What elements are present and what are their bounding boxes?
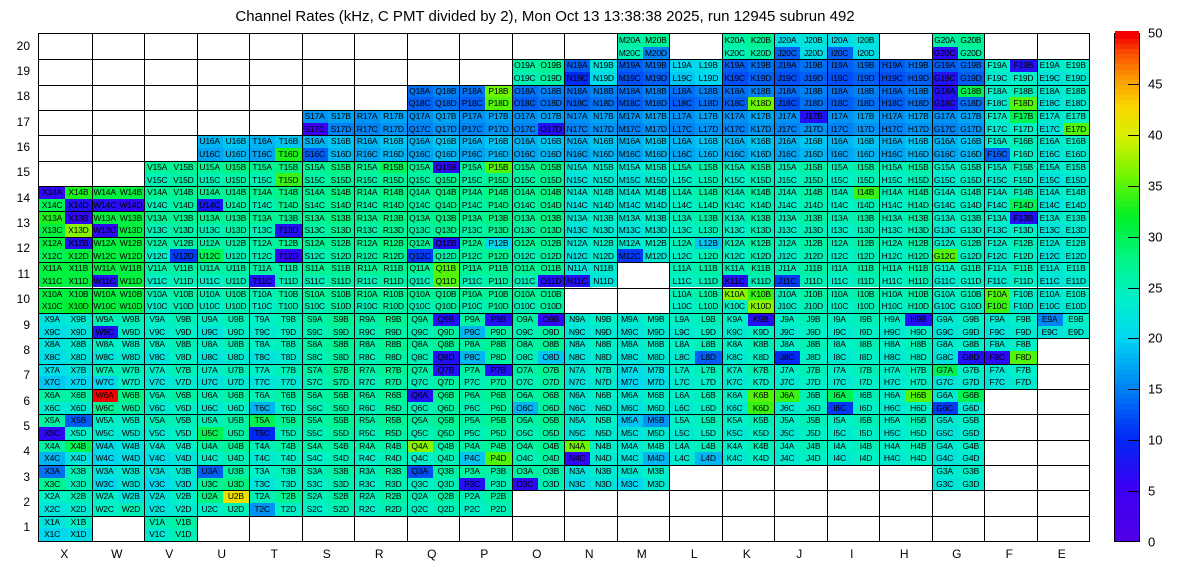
heatmap-cell: J15B xyxy=(800,161,826,174)
heatmap-cell: I4B xyxy=(853,440,879,453)
heatmap-cell: H5B xyxy=(905,414,931,427)
heatmap-cell: X11A xyxy=(39,262,65,275)
heatmap-cell: P3A xyxy=(459,465,485,478)
heatmap-cell: G14D xyxy=(958,199,984,212)
heatmap-cell: K9A xyxy=(722,313,748,326)
heatmap-cell: E18C xyxy=(1037,97,1063,110)
heatmap-cell: K20D xyxy=(748,47,774,60)
heatmap-cell: G6D xyxy=(958,402,984,415)
heatmap-cell: W9B xyxy=(118,313,144,326)
heatmap-cell: H8A xyxy=(879,338,905,351)
heatmap-cell: Q2C xyxy=(407,503,433,516)
heatmap-cell: V14D xyxy=(170,199,196,212)
heatmap-cell: I12B xyxy=(853,237,879,250)
heatmap-cell: V10D xyxy=(170,300,196,313)
heatmap-cell: R17B xyxy=(380,110,406,123)
grid-line-horizontal xyxy=(39,288,1089,289)
heatmap-cell: S14B xyxy=(328,186,354,199)
heatmap-cell: N4A xyxy=(564,440,590,453)
heatmap-cell: L10A xyxy=(669,288,695,301)
heatmap-cell: F9D xyxy=(1010,326,1036,339)
heatmap-cell: P8A xyxy=(459,338,485,351)
x-axis-tick-label: J xyxy=(796,547,802,561)
heatmap-cell: O4A xyxy=(512,440,538,453)
heatmap-cell: W5D xyxy=(118,427,144,440)
heatmap-cell: U5A xyxy=(197,414,223,427)
heatmap-cell: H10C xyxy=(879,300,905,313)
heatmap-cell: H11B xyxy=(905,262,931,275)
grid-line-horizontal xyxy=(39,59,1089,60)
heatmap-cell: P18D xyxy=(485,97,511,110)
heatmap-cell: R8D xyxy=(380,351,406,364)
heatmap-cell: J20D xyxy=(800,47,826,60)
heatmap-cell: L9D xyxy=(695,326,721,339)
heatmap-cell: E12C xyxy=(1037,249,1063,262)
heatmap-cell: S9A xyxy=(302,313,328,326)
grid-line-horizontal xyxy=(39,135,1089,136)
y-axis-tick-label: 17 xyxy=(17,115,30,129)
heatmap-cell: J14B xyxy=(800,186,826,199)
heatmap-cell: O4D xyxy=(538,452,564,465)
heatmap-cell: O3B xyxy=(538,465,564,478)
heatmap-cell: H15C xyxy=(879,173,905,186)
heatmap-cell: J12A xyxy=(774,237,800,250)
heatmap-cell: I15D xyxy=(853,173,879,186)
heatmap-cell: Q4A xyxy=(407,440,433,453)
heatmap-cell: J11D xyxy=(800,275,826,288)
heatmap-cell: V11D xyxy=(170,275,196,288)
heatmap-cell: P3C xyxy=(459,478,485,491)
heatmap-cell: P12B xyxy=(485,237,511,250)
heatmap-cell: P2B xyxy=(485,490,511,503)
heatmap-cell: M9A xyxy=(617,313,643,326)
heatmap-cell: S11C xyxy=(302,275,328,288)
heatmap-cell: S15B xyxy=(328,161,354,174)
heatmap-cell: R16A xyxy=(354,135,380,148)
heatmap-cell: I8C xyxy=(827,351,853,364)
heatmap-cell: I4C xyxy=(827,452,853,465)
heatmap-cell: G8A xyxy=(932,338,958,351)
heatmap-cell: W13D xyxy=(118,224,144,237)
heatmap-cell: H14D xyxy=(905,199,931,212)
heatmap-cell: N13D xyxy=(590,224,616,237)
heatmap-cell: G5A xyxy=(932,414,958,427)
heatmap-cell: X7C xyxy=(39,376,65,389)
heatmap-cell: G6A xyxy=(932,389,958,402)
grid-line-horizontal xyxy=(39,338,1089,339)
heatmap-cell: J9B xyxy=(800,313,826,326)
heatmap-cell: Q18B xyxy=(433,85,459,98)
heatmap-cell: L9C xyxy=(669,326,695,339)
heatmap-cell: U12B xyxy=(223,237,249,250)
heatmap-cell: V11C xyxy=(144,275,170,288)
heatmap-cell: Q12B xyxy=(433,237,459,250)
heatmap-cell: I18C xyxy=(827,97,853,110)
heatmap-cell: R14A xyxy=(354,186,380,199)
heatmap-cell: W3D xyxy=(118,478,144,491)
heatmap-cell: X2A xyxy=(39,490,65,503)
heatmap-cell: M16B xyxy=(643,135,669,148)
heatmap-cell: V8B xyxy=(170,338,196,351)
heatmap-cell: U9A xyxy=(197,313,223,326)
heatmap-cell: O7B xyxy=(538,364,564,377)
x-axis-labels: XWVUTSRQPONMLKJIHGFE xyxy=(38,545,1090,567)
heatmap-cell: G19C xyxy=(932,72,958,85)
y-axis-tick-label: 15 xyxy=(17,165,30,179)
heatmap-cell: S8C xyxy=(302,351,328,364)
heatmap-cell: X1C xyxy=(39,528,65,541)
heatmap-cell: K15C xyxy=(722,173,748,186)
heatmap-cell: G10D xyxy=(958,300,984,313)
heatmap-cell: H11D xyxy=(905,275,931,288)
heatmap-cell: U10C xyxy=(197,300,223,313)
y-axis-tick-label: 10 xyxy=(17,292,30,306)
heatmap-cell: J8A xyxy=(774,338,800,351)
heatmap-cell: O5A xyxy=(512,414,538,427)
heatmap-cell: P16D xyxy=(485,148,511,161)
heatmap-cell: U12A xyxy=(197,237,223,250)
heatmap-cell: S7A xyxy=(302,364,328,377)
heatmap-cell: H18A xyxy=(879,85,905,98)
heatmap-cell: I12C xyxy=(827,249,853,262)
heatmap-cell: T7A xyxy=(249,364,275,377)
heatmap-cell: M8A xyxy=(617,338,643,351)
heatmap-cell: O5D xyxy=(538,427,564,440)
heatmap-cell: M6C xyxy=(617,402,643,415)
heatmap-cell: G14B xyxy=(958,186,984,199)
heatmap-cell: S17A xyxy=(302,110,328,123)
heatmap-cell: T13D xyxy=(275,224,301,237)
heatmap-cell: T11D xyxy=(275,275,301,288)
heatmap-cell: W6A xyxy=(92,389,118,402)
heatmap-cell: O10B xyxy=(538,288,564,301)
heatmap-cell: L11D xyxy=(695,275,721,288)
heatmap-cell: P9A xyxy=(459,313,485,326)
grid-line-horizontal xyxy=(39,465,1089,466)
heatmap-cell: U11C xyxy=(197,275,223,288)
heatmap-cell: Q12A xyxy=(407,237,433,250)
heatmap-cell: R2B xyxy=(380,490,406,503)
heatmap-cell: V2C xyxy=(144,503,170,516)
heatmap-cell: N19C xyxy=(564,72,590,85)
y-axis-tick-label: 12 xyxy=(17,241,30,255)
heatmap-cell: J9C xyxy=(774,326,800,339)
heatmap-cell: N15A xyxy=(564,161,590,174)
heatmap-cell: G7B xyxy=(958,364,984,377)
heatmap-cell: O17A xyxy=(512,110,538,123)
heatmap-cell: M14C xyxy=(617,199,643,212)
heatmap-cell: K10D xyxy=(748,300,774,313)
heatmap-cell: G17C xyxy=(932,123,958,136)
heatmap-cell: X3A xyxy=(39,465,65,478)
heatmap-cell: K10A xyxy=(722,288,748,301)
heatmap-cell: T5B xyxy=(275,414,301,427)
heatmap-cell: W13A xyxy=(92,211,118,224)
heatmap-cell: J13C xyxy=(774,224,800,237)
heatmap-cell: S13B xyxy=(328,211,354,224)
heatmap-cell: G18C xyxy=(932,97,958,110)
heatmap-cell: O6C xyxy=(512,402,538,415)
heatmap-cell: Q18A xyxy=(407,85,433,98)
heatmap-cell: Q3D xyxy=(433,478,459,491)
heatmap-cell: R12C xyxy=(354,249,380,262)
heatmap-cell: H8D xyxy=(905,351,931,364)
heatmap-cell: V9B xyxy=(170,313,196,326)
heatmap-cell: X12C xyxy=(39,249,65,262)
heatmap-cell: G9A xyxy=(932,313,958,326)
heatmap-cell: H7D xyxy=(905,376,931,389)
heatmap-cell: X11C xyxy=(39,275,65,288)
heatmap-cell: I14D xyxy=(853,199,879,212)
heatmap-cell: G11D xyxy=(958,275,984,288)
heatmap-cell: X7D xyxy=(65,376,91,389)
heatmap-cell: K16A xyxy=(722,135,748,148)
heatmap-cell: J18A xyxy=(774,85,800,98)
heatmap-cell: G8D xyxy=(958,351,984,364)
heatmap-cell: L4B xyxy=(695,440,721,453)
heatmap-cell: M20C xyxy=(617,47,643,60)
heatmap-cell: E11A xyxy=(1037,262,1063,275)
heatmap-cell: W14A xyxy=(92,186,118,199)
heatmap-cell: I11B xyxy=(853,262,879,275)
heatmap-cell: X11B xyxy=(65,262,91,275)
heatmap-cell: F9A xyxy=(984,313,1010,326)
heatmap-cell: L19C xyxy=(669,72,695,85)
heatmap-cell: G14C xyxy=(932,199,958,212)
heatmap-cell: P13C xyxy=(459,224,485,237)
heatmap-cell: E16B xyxy=(1063,135,1089,148)
heatmap-cell: F8D xyxy=(1010,351,1036,364)
heatmap-cell: V15C xyxy=(144,173,170,186)
heatmap-cell: P9C xyxy=(459,326,485,339)
heatmap-cell: H9B xyxy=(905,313,931,326)
heatmap-cell: N4D xyxy=(590,452,616,465)
colorbar-tick-label: 50 xyxy=(1148,26,1162,41)
heatmap-cell: R16D xyxy=(380,148,406,161)
heatmap-cell: V12B xyxy=(170,237,196,250)
heatmap-cell: E14B xyxy=(1063,186,1089,199)
heatmap-cell: F10D xyxy=(1010,300,1036,313)
heatmap-cell: Q18D xyxy=(433,97,459,110)
heatmap-cell: T12B xyxy=(275,237,301,250)
heatmap-cell: R13B xyxy=(380,211,406,224)
heatmap-cell: I17C xyxy=(827,123,853,136)
heatmap-cell: R16B xyxy=(380,135,406,148)
heatmap-cell: K7D xyxy=(748,376,774,389)
heatmap-cell: K8A xyxy=(722,338,748,351)
heatmap-cell: F10B xyxy=(1010,288,1036,301)
heatmap-cell: H17B xyxy=(905,110,931,123)
heatmap-cell: O9B xyxy=(538,313,564,326)
heatmap-cell: L19A xyxy=(669,59,695,72)
heatmap-cell: O8B xyxy=(538,338,564,351)
heatmap-cell: I7A xyxy=(827,364,853,377)
heatmap-cell: G18D xyxy=(958,97,984,110)
heatmap-cell: K7A xyxy=(722,364,748,377)
heatmap-cell: S15A xyxy=(302,161,328,174)
heatmap-cell: P10C xyxy=(459,300,485,313)
heatmap-cell: T10B xyxy=(275,288,301,301)
heatmap-cell: P6C xyxy=(459,402,485,415)
heatmap-cell: T16A xyxy=(249,135,275,148)
heatmap-cell: G20A xyxy=(932,34,958,47)
heatmap-cell: P10B xyxy=(485,288,511,301)
heatmap-cell: S5A xyxy=(302,414,328,427)
heatmap-cell: P15A xyxy=(459,161,485,174)
heatmap-cell: N9B xyxy=(590,313,616,326)
heatmap-cell: M20D xyxy=(643,47,669,60)
heatmap-cell: V6B xyxy=(170,389,196,402)
heatmap-cell: M18B xyxy=(643,85,669,98)
heatmap-cell: R4A xyxy=(354,440,380,453)
heatmap-cell: H19C xyxy=(879,72,905,85)
heatmap-cell: Q4C xyxy=(407,452,433,465)
heatmap-cell: G20D xyxy=(958,47,984,60)
heatmap-cell: R8B xyxy=(380,338,406,351)
heatmap-cell: T11B xyxy=(275,262,301,275)
heatmap-cell: P16A xyxy=(459,135,485,148)
heatmap-cell: M8B xyxy=(643,338,669,351)
heatmap-cell: P8B xyxy=(485,338,511,351)
heatmap-cell: I11A xyxy=(827,262,853,275)
heatmap-cell: W3C xyxy=(92,478,118,491)
page-title: Channel Rates (kHz, C PMT divided by 2),… xyxy=(0,8,1090,25)
heatmap-cell: Q15B xyxy=(433,161,459,174)
heatmap-cell: F16A xyxy=(984,135,1010,148)
heatmap-cell: I14A xyxy=(827,186,853,199)
heatmap-cell: X12B xyxy=(65,237,91,250)
heatmap-cell: I17D xyxy=(853,123,879,136)
heatmap-cell: V14C xyxy=(144,199,170,212)
heatmap-cell: V7C xyxy=(144,376,170,389)
heatmap-cell: K8B xyxy=(748,338,774,351)
heatmap-cell: S11A xyxy=(302,262,328,275)
heatmap-cell: J7D xyxy=(800,376,826,389)
heatmap-cell: X14D xyxy=(65,199,91,212)
heatmap-cell: H14C xyxy=(879,199,905,212)
heatmap-cell: U13B xyxy=(223,211,249,224)
heatmap-cell: Q11D xyxy=(433,275,459,288)
heatmap-cell: S10C xyxy=(302,300,328,313)
heatmap-cell: O11C xyxy=(512,275,538,288)
heatmap-cell: U7D xyxy=(223,376,249,389)
heatmap-cell: G12C xyxy=(932,249,958,262)
heatmap-cell: X3D xyxy=(65,478,91,491)
heatmap-cell: R4C xyxy=(354,452,380,465)
heatmap-cell: Q11B xyxy=(433,262,459,275)
heatmap-cell: F14A xyxy=(984,186,1010,199)
heatmap-cell: N15D xyxy=(590,173,616,186)
heatmap-cell: E11D xyxy=(1063,275,1089,288)
heatmap-cell: N6A xyxy=(564,389,590,402)
heatmap-cell: X5A xyxy=(39,414,65,427)
heatmap-cell: P14D xyxy=(485,199,511,212)
heatmap-cell: T5D xyxy=(275,427,301,440)
heatmap-cell: U11D xyxy=(223,275,249,288)
heatmap-cell: U2C xyxy=(197,503,223,516)
heatmap-cell: J7C xyxy=(774,376,800,389)
heatmap-cell: J11C xyxy=(774,275,800,288)
heatmap-cell: L10D xyxy=(695,300,721,313)
heatmap-cell: M18A xyxy=(617,85,643,98)
heatmap-cell: K11B xyxy=(748,262,774,275)
heatmap-cell: I13B xyxy=(853,211,879,224)
heatmap-cell: O15C xyxy=(512,173,538,186)
heatmap-cell: L15D xyxy=(695,173,721,186)
heatmap-cell: X7A xyxy=(39,364,65,377)
heatmap-cell: I16B xyxy=(853,135,879,148)
heatmap-cell: H19D xyxy=(905,72,931,85)
heatmap-cell: S7B xyxy=(328,364,354,377)
heatmap-cell: T8B xyxy=(275,338,301,351)
heatmap-cell: L6C xyxy=(669,402,695,415)
heatmap-cell: I5C xyxy=(827,427,853,440)
heatmap-cell: O19A xyxy=(512,59,538,72)
heatmap-cell: G12A xyxy=(932,237,958,250)
heatmap-cell: P14B xyxy=(485,186,511,199)
heatmap-cell: F11A xyxy=(984,262,1010,275)
heatmap-cell: L19D xyxy=(695,72,721,85)
heatmap-cell: S6C xyxy=(302,402,328,415)
heatmap-cell: G13D xyxy=(958,224,984,237)
heatmap-cell: Q10D xyxy=(433,300,459,313)
heatmap-cell: U4B xyxy=(223,440,249,453)
heatmap-cell: O15B xyxy=(538,161,564,174)
heatmap-cell: T9B xyxy=(275,313,301,326)
heatmap-cell: M16C xyxy=(617,148,643,161)
heatmap-cell: J20C xyxy=(774,47,800,60)
heatmap-cell: O18D xyxy=(538,97,564,110)
grid-line-horizontal xyxy=(39,161,1089,162)
heatmap-cell: J17A xyxy=(774,110,800,123)
heatmap-cell: X9C xyxy=(39,326,65,339)
heatmap-cell: G15B xyxy=(958,161,984,174)
heatmap-cell: X10D xyxy=(65,300,91,313)
heatmap-cell: S12D xyxy=(328,249,354,262)
heatmap-cell: G9D xyxy=(958,326,984,339)
heatmap-cell: Q11C xyxy=(407,275,433,288)
heatmap-cell: T10D xyxy=(275,300,301,313)
heatmap-cell: E12D xyxy=(1063,249,1089,262)
heatmap-cell: F7A xyxy=(984,364,1010,377)
heatmap-cell: U8D xyxy=(223,351,249,364)
heatmap-cell: L8C xyxy=(669,351,695,364)
heatmap-cell: E10C xyxy=(1037,300,1063,313)
heatmap-cell: S2B xyxy=(328,490,354,503)
heatmap-cell: L19B xyxy=(695,59,721,72)
heatmap-cell: U10D xyxy=(223,300,249,313)
heatmap-cell: F11B xyxy=(1010,262,1036,275)
heatmap-cell: H9D xyxy=(905,326,931,339)
heatmap-cell: U8B xyxy=(223,338,249,351)
heatmap-cell: J17B xyxy=(800,110,826,123)
heatmap-cell: I15A xyxy=(827,161,853,174)
heatmap-cell: J11A xyxy=(774,262,800,275)
heatmap-cell: R5A xyxy=(354,414,380,427)
x-axis-tick-label: L xyxy=(691,547,698,561)
heatmap-cell: U5C xyxy=(197,427,223,440)
heatmap-cell: O6A xyxy=(512,389,538,402)
heatmap-cell: I14B xyxy=(853,186,879,199)
heatmap-cell: W10A xyxy=(92,288,118,301)
heatmap-cell: G6B xyxy=(958,389,984,402)
heatmap-cell: H13D xyxy=(905,224,931,237)
heatmap-cell: P15C xyxy=(459,173,485,186)
heatmap-cell: L15C xyxy=(669,173,695,186)
heatmap-cell: X13D xyxy=(65,224,91,237)
heatmap-cell: F13D xyxy=(1010,224,1036,237)
heatmap-cell: R10C xyxy=(354,300,380,313)
